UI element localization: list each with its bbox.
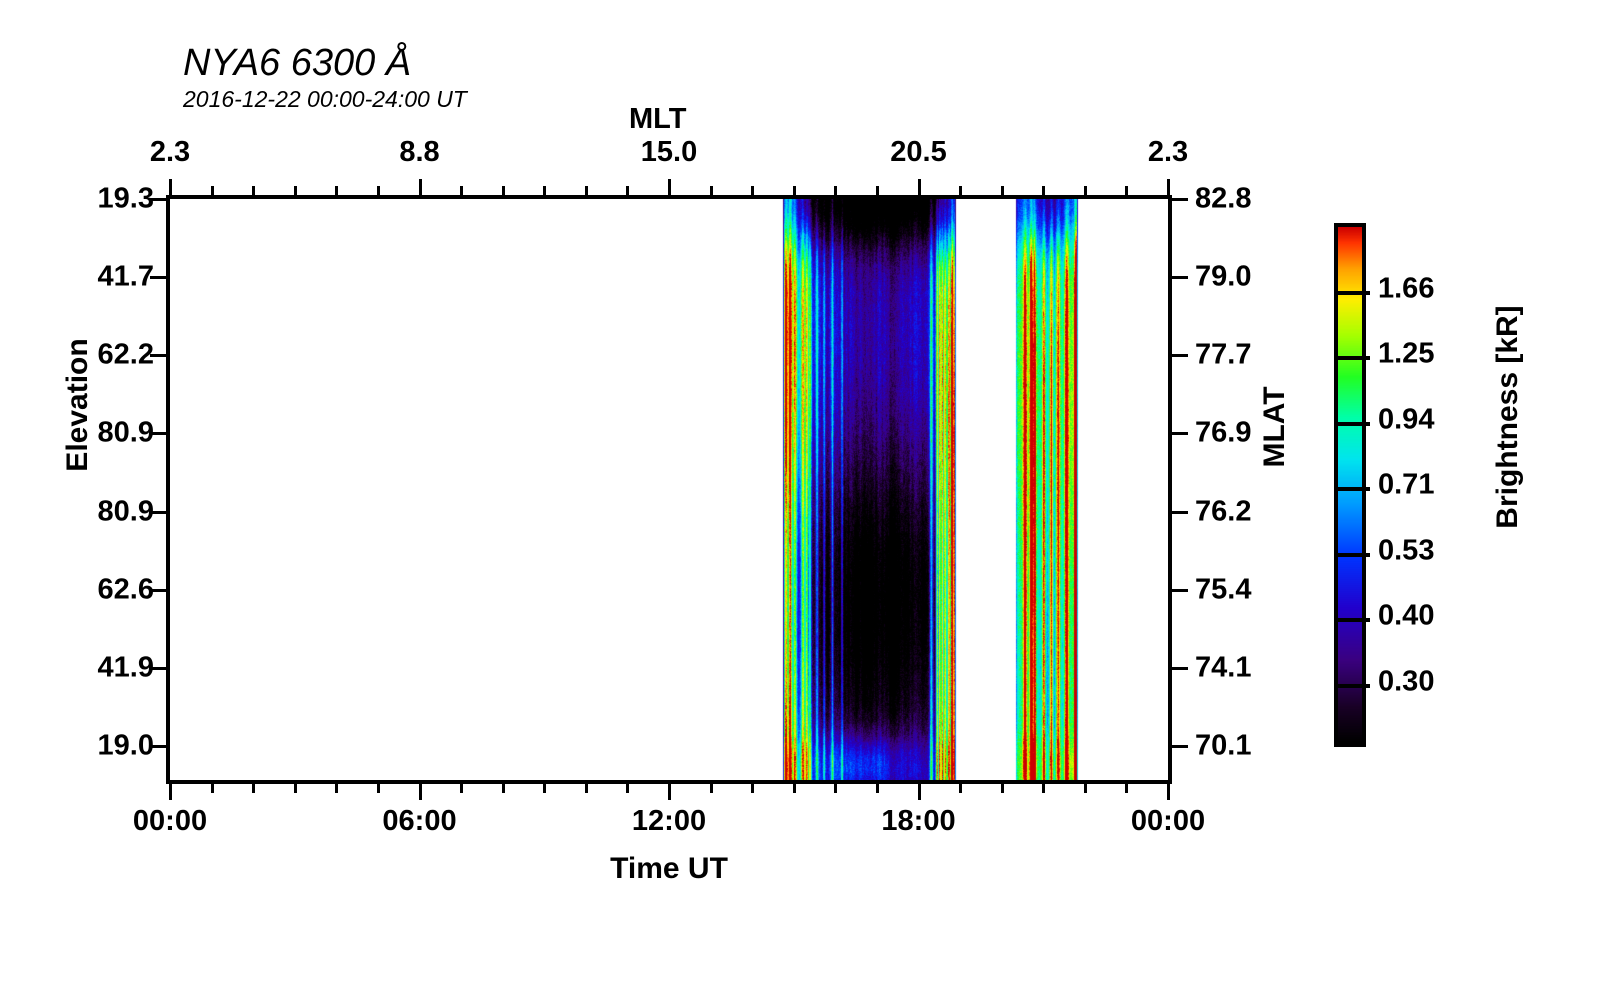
axis-tick	[1167, 784, 1170, 800]
time-tick-label: 12:00	[632, 805, 706, 838]
axis-tick	[710, 784, 713, 793]
mlat-axis-title: MLAT	[1258, 337, 1292, 517]
title-block: NYA6 6300 Å 2016-12-22 00:00-24:00 UT	[183, 42, 467, 112]
axis-tick	[585, 784, 588, 793]
axis-tick	[710, 186, 713, 195]
axis-tick	[751, 784, 754, 793]
axis-tick	[460, 186, 463, 195]
axis-tick	[793, 784, 796, 793]
plot-subtitle: 2016-12-22 00:00-24:00 UT	[183, 86, 467, 112]
elevation-tick-label: 19.0	[98, 730, 154, 763]
elevation-axis-title: Elevation	[61, 305, 95, 505]
colorbar-tick-label: 0.94	[1378, 403, 1434, 436]
axis-tick	[252, 784, 255, 793]
axis-tick	[543, 186, 546, 195]
mlat-tick-label: 75.4	[1195, 573, 1251, 606]
colorbar-tick-label: 0.71	[1378, 469, 1434, 502]
axis-tick	[1001, 784, 1004, 793]
mlt-axis-title: MLT	[629, 103, 686, 136]
colorbar-tick-label: 1.25	[1378, 338, 1434, 371]
axis-tick	[377, 784, 380, 793]
mlt-tick-label: 20.5	[890, 136, 946, 169]
page-title: NYA6 6300 Å	[183, 42, 467, 84]
colorbar-tick-label: 0.40	[1378, 600, 1434, 633]
axis-tick	[169, 784, 172, 800]
time-axis-title: Time UT	[0, 852, 1338, 886]
axis-tick	[834, 186, 837, 195]
colorbar-gradient	[1338, 227, 1362, 743]
axis-tick	[1042, 186, 1045, 195]
axis-tick	[668, 784, 671, 800]
axis-tick	[1172, 589, 1188, 592]
keogram-image	[170, 199, 1168, 780]
axis-tick	[211, 186, 214, 195]
mlt-tick-label: 2.3	[1148, 136, 1188, 169]
axis-tick	[419, 784, 422, 800]
mlat-tick-label: 77.7	[1195, 339, 1251, 372]
colorbar-axis-title: Brightness [kR]	[1491, 287, 1525, 547]
elevation-tick-label: 19.3	[98, 183, 154, 216]
axis-tick	[1084, 186, 1087, 195]
axis-tick	[335, 784, 338, 793]
time-tick-label: 18:00	[881, 805, 955, 838]
axis-tick	[918, 784, 921, 800]
mlt-tick-label: 15.0	[641, 136, 697, 169]
axis-tick	[335, 186, 338, 195]
colorbar-separator	[1338, 553, 1370, 557]
axis-tick	[1172, 198, 1188, 201]
axis-tick	[585, 186, 588, 195]
colorbar-separator	[1338, 291, 1370, 295]
axis-tick	[1167, 179, 1170, 195]
colorbar-tick-label: 0.53	[1378, 534, 1434, 567]
axis-tick	[876, 186, 879, 195]
colorbar-tick-label: 0.30	[1378, 665, 1434, 698]
elevation-tick-label: 41.7	[98, 261, 154, 294]
elevation-tick-label: 41.9	[98, 651, 154, 684]
axis-tick	[626, 784, 629, 793]
axis-tick	[1172, 354, 1188, 357]
mlat-tick-label: 79.0	[1195, 261, 1251, 294]
mlat-tick-label: 76.2	[1195, 495, 1251, 528]
axis-tick	[169, 179, 172, 195]
axis-tick	[419, 179, 422, 195]
mlat-tick-label: 76.9	[1195, 417, 1251, 450]
colorbar-tick-label: 1.66	[1378, 272, 1434, 305]
axis-tick	[1172, 745, 1188, 748]
axis-tick	[876, 784, 879, 793]
axis-tick	[834, 784, 837, 793]
axis-tick	[1084, 784, 1087, 793]
mlt-tick-label: 2.3	[150, 136, 190, 169]
axis-tick	[1125, 784, 1128, 793]
elevation-tick-label: 62.6	[98, 573, 154, 606]
axis-tick	[460, 784, 463, 793]
axis-tick	[502, 784, 505, 793]
colorbar-separator	[1338, 356, 1370, 360]
elevation-tick-label: 80.9	[98, 417, 154, 450]
axis-tick	[1042, 784, 1045, 793]
axis-tick	[959, 784, 962, 793]
elevation-tick-label: 62.2	[98, 339, 154, 372]
axis-tick	[502, 186, 505, 195]
colorbar-separator	[1338, 487, 1370, 491]
axis-tick	[1172, 276, 1188, 279]
axis-tick	[1125, 186, 1128, 195]
colorbar-separator	[1338, 684, 1370, 688]
axis-tick	[918, 179, 921, 195]
axis-tick	[294, 186, 297, 195]
axis-tick	[377, 186, 380, 195]
axis-tick	[1172, 432, 1188, 435]
axis-tick	[751, 186, 754, 195]
axis-tick	[252, 186, 255, 195]
keogram-plot-area	[166, 195, 1172, 784]
axis-tick	[211, 784, 214, 793]
axis-tick	[543, 784, 546, 793]
axis-tick	[959, 186, 962, 195]
axis-tick	[294, 784, 297, 793]
elevation-tick-label: 80.9	[98, 495, 154, 528]
axis-tick	[793, 186, 796, 195]
time-tick-label: 00:00	[133, 805, 207, 838]
colorbar-separator	[1338, 422, 1370, 426]
axis-tick	[1001, 186, 1004, 195]
axis-tick	[1172, 667, 1188, 670]
axis-tick	[626, 186, 629, 195]
mlt-tick-label: 8.8	[399, 136, 439, 169]
axis-tick	[668, 179, 671, 195]
mlat-tick-label: 70.1	[1195, 730, 1251, 763]
colorbar	[1334, 223, 1366, 747]
mlat-tick-label: 82.8	[1195, 183, 1251, 216]
time-tick-label: 06:00	[382, 805, 456, 838]
colorbar-separator	[1338, 618, 1370, 622]
mlat-tick-label: 74.1	[1195, 651, 1251, 684]
time-tick-label: 00:00	[1131, 805, 1205, 838]
axis-tick	[1172, 511, 1188, 514]
